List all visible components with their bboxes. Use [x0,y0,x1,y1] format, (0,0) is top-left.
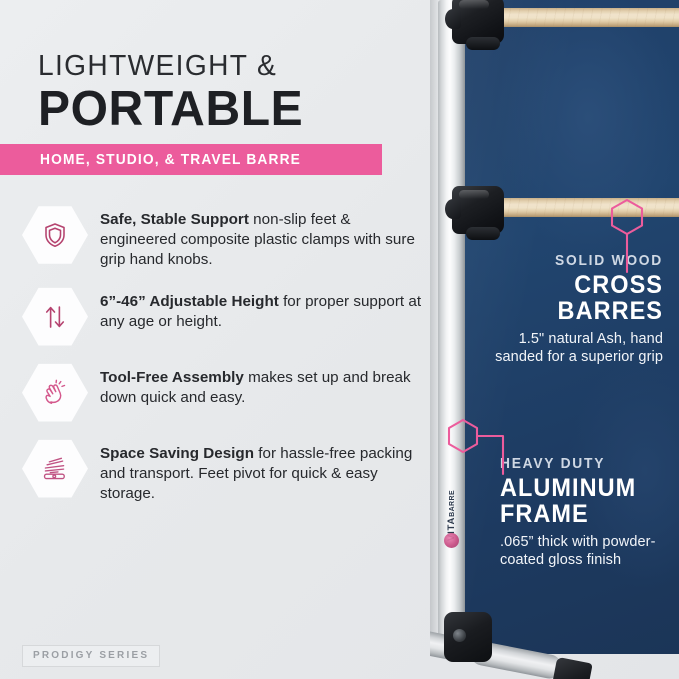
brand-sub-text: BARRE [449,489,456,516]
callout-connector-aluminum-frame [445,416,527,483]
feature-list: Safe, Stable Support non-slip feet & eng… [22,205,422,520]
series-badge: PRODIGY SERIES [22,645,160,667]
feature-bold-2: Tool-Free Assembly [100,369,244,386]
clapping-hands-icon [22,363,88,423]
barre-clamp-top [452,0,504,44]
base-foot-cap-right [551,657,592,679]
feature-text-adjustable-height: 6”-46” Adjustable Height for proper supp… [88,287,422,332]
feature-bold-3: Space Saving Design [100,445,254,462]
up-down-arrows-icon [22,287,88,347]
wooden-cross-barre-top [492,8,679,27]
base-pivot-joint [444,612,492,662]
feature-item-adjustable-height: 6”-46” Adjustable Height for proper supp… [22,287,422,347]
callout-title-cross-barres: CROSS BARRES [498,272,663,324]
headline-block: LIGHTWEIGHT & PORTABLE [38,52,418,135]
callout-connector-cross-barres [604,196,650,279]
callout-title-line-2: BARRES [498,298,663,324]
headline-line-1: LIGHTWEIGHT & [38,52,407,81]
feature-item-tool-free-assembly: Tool-Free Assembly makes set up and brea… [22,363,422,423]
callout-description-aluminum-frame: .065” thick with powder-coated gloss fin… [500,533,670,570]
callout-title-line-2: FRAME [500,501,660,527]
barre-clamp-middle [452,186,504,234]
feature-item-safe-stable-support: Safe, Stable Support non-slip feet & eng… [22,205,422,271]
feature-bold-0: Safe, Stable Support [100,211,249,228]
tagline-text: HOME, STUDIO, & TRAVEL BARRE [40,152,301,168]
feature-bold-1: 6”-46” Adjustable Height [100,293,279,310]
headline-line-2: PORTABLE [38,85,410,135]
callout-description-cross-barres: 1.5" natural Ash, hand sanded for a supe… [487,330,663,367]
folded-barre-stack-icon [22,439,88,499]
brand-logo-mark-icon [444,533,459,548]
product-infographic: LIGHTWEIGHT & PORTABLE HOME, STUDIO, & T… [0,0,679,679]
wooden-cross-barre-middle [492,198,679,217]
feature-item-space-saving-design: Space Saving Design for hassle-free pack… [22,439,422,505]
shield-icon [22,205,88,265]
feature-text-space-saving-design: Space Saving Design for hassle-free pack… [88,439,422,505]
feature-text-tool-free-assembly: Tool-Free Assembly makes set up and brea… [88,363,422,408]
feature-text-safe-stable-support: Safe, Stable Support non-slip feet & eng… [88,205,422,271]
tagline-banner: HOME, STUDIO, & TRAVEL BARRE [0,144,382,175]
